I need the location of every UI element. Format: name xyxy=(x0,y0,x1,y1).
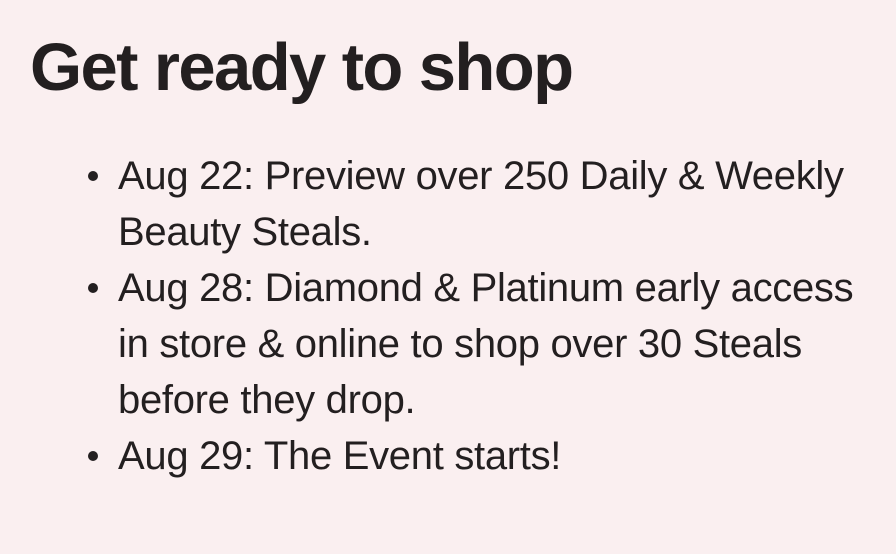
bullet-dot-icon xyxy=(88,451,98,461)
page-title: Get ready to shop xyxy=(30,34,572,101)
list-item: Aug 28: Diamond & Platinum early access … xyxy=(80,260,870,428)
schedule-list: Aug 22: Preview over 250 Daily & Weekly … xyxy=(80,148,870,484)
list-item: Aug 22: Preview over 250 Daily & Weekly … xyxy=(80,148,870,260)
list-item-text: Aug 22: Preview over 250 Daily & Weekly … xyxy=(118,148,870,260)
list-item: Aug 29: The Event starts! xyxy=(80,428,870,484)
list-item-text: Aug 28: Diamond & Platinum early access … xyxy=(118,260,870,428)
promo-panel: Get ready to shop Aug 22: Preview over 2… xyxy=(0,0,896,554)
bullet-dot-icon xyxy=(88,171,98,181)
list-item-text: Aug 29: The Event starts! xyxy=(118,428,870,484)
bullet-dot-icon xyxy=(88,283,98,293)
